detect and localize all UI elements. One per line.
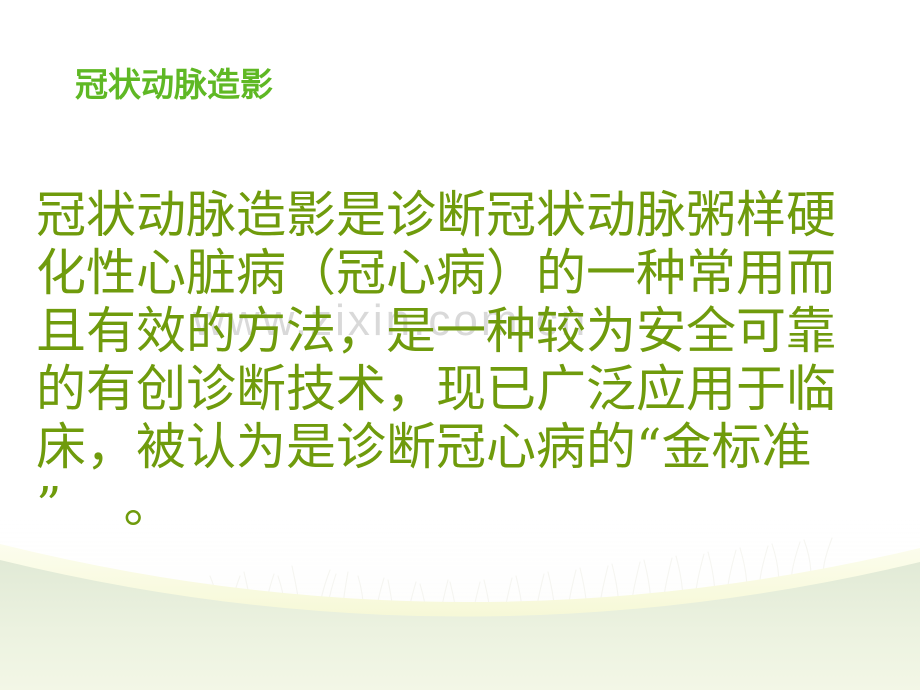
body-line-5: 床，被认为是诊断冠心病的“金标准: [36, 418, 872, 476]
cream-arc: [0, 544, 920, 620]
green-field: [0, 560, 920, 690]
body-line-1: 冠状动脉造影是诊断冠状动脉粥样硬: [36, 186, 872, 244]
slide-canvas: 冠状动脉造影 www.zixin.com.cn 冠状动脉造影是诊断冠状动脉粥样硬…: [0, 0, 920, 690]
body-line-6: ” 。: [36, 476, 872, 534]
body-line-2: 化性心脏病（冠心病）的一种常用而: [36, 244, 872, 302]
body-paragraph: 冠状动脉造影是诊断冠状动脉粥样硬 化性心脏病（冠心病）的一种常用而 且有效的方法…: [36, 186, 872, 534]
body-line-4: 的有创诊断技术，现已广泛应用于临: [36, 360, 872, 418]
body-line-3: 且有效的方法，是一种较为安全可靠: [36, 302, 872, 360]
page-title: 冠状动脉造影: [75, 66, 273, 104]
